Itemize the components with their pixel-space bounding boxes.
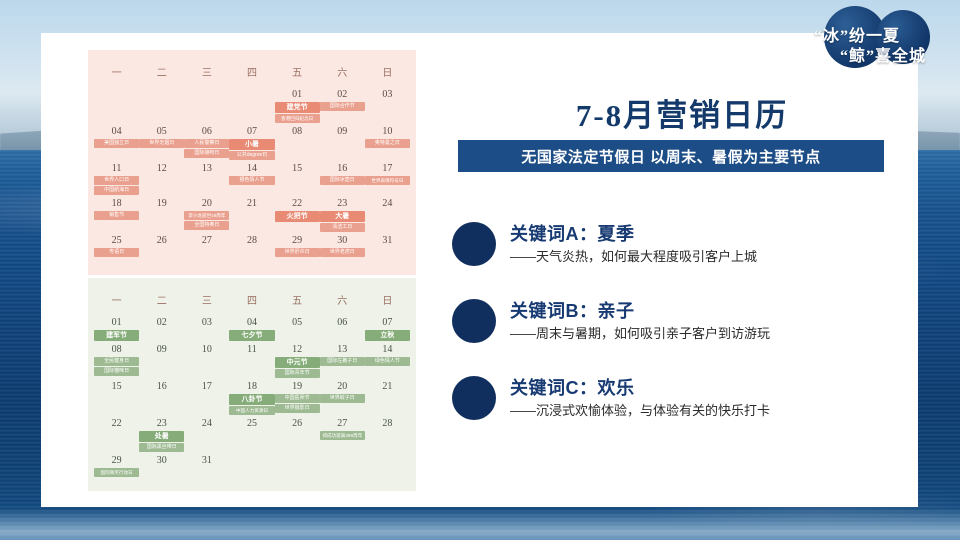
calendar-day-cell[interactable]: 17世界表情符号日	[365, 161, 410, 196]
day-number: 29	[94, 455, 139, 467]
weekday-label: 三	[184, 284, 229, 313]
calendar-day-cell[interactable]: 19	[139, 196, 184, 233]
calendar-day-cell[interactable]: 08全民健身日国际猫咪日	[94, 342, 139, 379]
day-event-tag[interactable]: 世界老虎日	[320, 248, 365, 257]
day-number: 15	[94, 381, 139, 393]
day-event-tag[interactable]: 全国特奥日	[184, 221, 229, 230]
highlight-banner-text: 无国家法定节假日 以周末、暑假为主要节点	[521, 146, 820, 167]
day-event-tag[interactable]: 国际黑丝带日	[139, 443, 184, 452]
day-event-tag[interactable]: 绿色情人节	[365, 357, 410, 366]
weekday-label: 二	[139, 56, 184, 85]
day-number: 31	[184, 455, 229, 467]
calendar-day-cell[interactable]: 12中元节国际青年节	[275, 342, 320, 379]
calendar-day-cell[interactable]: 04美国独立日	[94, 124, 139, 161]
day-event-tag[interactable]: 美国独立日	[94, 139, 139, 148]
calendar-day-cell[interactable]: 29世界肝炎日	[275, 233, 320, 258]
weekday-label: 六	[320, 56, 365, 85]
day-number: 18	[229, 381, 274, 393]
calendar-day-cell[interactable]: 25粤语日	[94, 233, 139, 258]
calendar-day-cell[interactable]	[320, 453, 365, 478]
calendar-day-cell[interactable]: 27郑成功诞辰398周年	[320, 416, 365, 453]
keyword-c-title: 关键词C：欢乐	[510, 374, 635, 400]
day-event-tag[interactable]: 香港回归纪念日	[275, 114, 320, 123]
calendar-day-cell[interactable]: 02	[139, 315, 184, 342]
calendar-july: 一二三四五六日01建党节香港回归纪念日02国际合作节0304美国独立日05世界无…	[88, 50, 416, 275]
calendar-day-cell[interactable]: 26	[139, 233, 184, 258]
day-event-tag[interactable]: 国际合作节	[320, 102, 365, 111]
day-event-tag[interactable]: 国际猫咪日	[94, 367, 139, 376]
day-event-tag[interactable]: 清洁工日	[320, 223, 365, 232]
calendar-day-cell[interactable]: 22火把节	[275, 196, 320, 233]
day-number: 07	[365, 317, 410, 329]
bullet-dot-icon	[452, 222, 496, 266]
day-event-tag[interactable]: 小暑	[229, 139, 274, 150]
day-number: 26	[139, 235, 184, 247]
calendar-day-cell[interactable]: 18八卦节中国人力资源日	[229, 379, 274, 416]
calendar-day-cell[interactable]: 17	[184, 379, 229, 416]
day-number: 11	[94, 163, 139, 175]
calendar-day-cell[interactable]	[139, 87, 184, 124]
day-number: 22	[275, 198, 320, 210]
day-number: 24	[184, 418, 229, 430]
weekday-label: 三	[184, 56, 229, 85]
day-number: 20	[320, 381, 365, 393]
calendar-day-cell[interactable]: 06	[320, 315, 365, 342]
calendar-day-cell[interactable]: 11	[229, 342, 274, 379]
logo-line-2: “鲸”喜全城	[840, 42, 926, 66]
calendar-day-cell[interactable]: 15	[275, 161, 320, 196]
day-number: 29	[275, 235, 320, 247]
day-number: 17	[365, 163, 410, 175]
calendar-day-cell[interactable]: 14银色情人节	[229, 161, 274, 196]
day-number: 30	[320, 235, 365, 247]
day-event-tag[interactable]: 国际青年节	[275, 369, 320, 378]
day-number: 19	[275, 381, 320, 393]
weekday-label: 日	[365, 56, 410, 85]
day-number: 06	[184, 126, 229, 138]
day-event-tag[interactable]: 建军节	[94, 330, 139, 341]
calendar-day-cell[interactable]: 26	[275, 416, 320, 453]
weekday-label: 五	[275, 56, 320, 85]
day-number: 25	[94, 235, 139, 247]
calendar-week-row: 01建军节020304七夕节050607立秋	[88, 315, 416, 342]
day-event-tag[interactable]: 八卦节	[229, 394, 274, 405]
calendar-day-cell[interactable]	[365, 453, 410, 478]
calendar-day-cell[interactable]	[229, 453, 274, 478]
calendar-day-cell[interactable]	[184, 87, 229, 124]
weekday-label: 六	[320, 284, 365, 313]
calendar-week-row: 11世界人口日中国航海日121314银色情人节1516国际冰壶日17世界表情符号…	[88, 161, 416, 196]
calendar-day-cell[interactable]: 22	[94, 416, 139, 453]
calendar-day-cell[interactable]: 10奥特曼之日	[365, 124, 410, 161]
calendar-day-cell[interactable]: 15	[94, 379, 139, 416]
day-event-tag[interactable]: 国际接吻日	[184, 149, 229, 158]
day-number: 13	[320, 344, 365, 356]
day-number: 12	[139, 163, 184, 175]
calendar-day-cell[interactable]: 27	[184, 233, 229, 258]
day-number: 08	[94, 344, 139, 356]
day-event-tag[interactable]: 国际冰壶日	[320, 176, 365, 185]
calendar-august: 一二三四五六日01建军节020304七夕节050607立秋08全民健身日国际猫咪…	[88, 278, 416, 491]
day-number: 28	[365, 418, 410, 430]
calendar-week-row: 08全民健身日国际猫咪日09101112中元节国际青年节13国际左撇子日14绿色…	[88, 342, 416, 379]
day-number: 05	[275, 317, 320, 329]
day-event-tag[interactable]: 中国医师节	[275, 394, 320, 403]
calendar-day-cell[interactable]: 24	[184, 416, 229, 453]
calendar-weekday-header: 一二三四五六日	[88, 278, 416, 315]
calendar-day-cell[interactable]: 01建党节香港回归纪念日	[275, 87, 320, 124]
calendar-day-cell[interactable]: 30世界老虎日	[320, 233, 365, 258]
day-number: 03	[184, 317, 229, 329]
weekday-label: 四	[229, 284, 274, 313]
day-number: 27	[320, 418, 365, 430]
day-number: 10	[365, 126, 410, 138]
day-number: 06	[320, 317, 365, 329]
calendar-week-row: 18销售节1920李小龙逝世49周年全国特奥日2122火把节23大暑清洁工日24	[88, 196, 416, 233]
day-number: 24	[365, 198, 410, 210]
day-number: 05	[139, 126, 184, 138]
calendar-weekday-header: 一二三四五六日	[88, 50, 416, 87]
day-event-tag[interactable]: 立秋	[365, 330, 410, 341]
weekday-label: 二	[139, 284, 184, 313]
calendar-day-cell[interactable]: 05	[275, 315, 320, 342]
day-event-tag[interactable]: 人民警察日	[184, 139, 229, 148]
day-event-tag[interactable]: 全民健身日	[94, 357, 139, 366]
calendar-day-cell[interactable]: 18销售节	[94, 196, 139, 233]
day-event-tag[interactable]: 世界肝炎日	[275, 248, 320, 257]
calendar-day-cell[interactable]: 23大暑清洁工日	[320, 196, 365, 233]
day-event-tag[interactable]: 七夕节	[229, 330, 274, 341]
calendar-day-cell[interactable]: 09	[320, 124, 365, 161]
keyword-item-b: 关键词B：亲子 ——周末与暑期，如何吸引亲子客户到访游玩	[452, 297, 902, 359]
keyword-c-subtitle: ——沉浸式欢愉体验，与体验有关的快乐打卡	[510, 400, 770, 419]
day-number: 30	[139, 455, 184, 467]
day-number: 17	[184, 381, 229, 393]
day-event-tag[interactable]: 李小龙逝世49周年	[184, 211, 229, 220]
day-number: 22	[94, 418, 139, 430]
weekday-label: 一	[94, 284, 139, 313]
day-event-tag[interactable]: 奥特曼之日	[365, 139, 410, 148]
day-number: 04	[94, 126, 139, 138]
calendar-week-row: 29国际微笑行动日3031	[88, 453, 416, 478]
calendar-day-cell[interactable]: 31	[184, 453, 229, 478]
calendar-week-row: 25粤语日26272829世界肝炎日30世界老虎日31	[88, 233, 416, 258]
calendar-day-cell[interactable]	[275, 453, 320, 478]
day-number: 08	[275, 126, 320, 138]
calendar-day-cell[interactable]: 19中国医师节世界摄影日	[275, 379, 320, 416]
bullet-dot-icon	[452, 376, 496, 420]
calendar-day-cell[interactable]: 11世界人口日中国航海日	[94, 161, 139, 196]
day-number: 16	[139, 381, 184, 393]
day-event-tag[interactable]: 世界人口日	[94, 176, 139, 185]
weekday-label: 日	[365, 284, 410, 313]
day-number: 25	[229, 418, 274, 430]
bullet-dot-icon	[452, 299, 496, 343]
day-number: 09	[320, 126, 365, 138]
calendar-day-cell[interactable]: 28	[229, 233, 274, 258]
keyword-item-c: 关键词C：欢乐 ——沉浸式欢愉体验，与体验有关的快乐打卡	[452, 374, 902, 436]
weekday-label: 四	[229, 56, 274, 85]
calendar-week-row: 2223处暑国际黑丝带日24252627郑成功诞辰398周年28	[88, 416, 416, 453]
calendar-day-cell[interactable]: 07立秋	[365, 315, 410, 342]
day-event-tag[interactable]: 公共degree日	[229, 151, 274, 160]
day-event-tag[interactable]: 大暑	[320, 211, 365, 222]
keyword-a-title: 关键词A：夏季	[510, 220, 635, 246]
day-number: 31	[365, 235, 410, 247]
calendar-week-row: 15161718八卦节中国人力资源日19中国医师节世界摄影日20世界蚊子日21	[88, 379, 416, 416]
day-number: 10	[184, 344, 229, 356]
day-event-tag[interactable]: 郑成功诞辰398周年	[320, 431, 365, 440]
calendar-day-cell[interactable]: 06人民警察日国际接吻日	[184, 124, 229, 161]
calendar-day-cell[interactable]: 24	[365, 196, 410, 233]
day-number: 02	[139, 317, 184, 329]
weekday-label: 一	[94, 56, 139, 85]
highlight-banner: 无国家法定节假日 以周末、暑假为主要节点	[458, 140, 884, 172]
day-number: 20	[184, 198, 229, 210]
day-event-tag[interactable]: 销售节	[94, 211, 139, 220]
calendar-day-cell[interactable]: 30	[139, 453, 184, 478]
right-column: 7-8月营销日历 无国家法定节假日 以周末、暑假为主要节点 关键词A：夏季 ——…	[446, 0, 906, 540]
calendar-day-cell[interactable]: 16国际冰壶日	[320, 161, 365, 196]
calendar-day-cell[interactable]: 12	[139, 161, 184, 196]
calendar-day-cell[interactable]: 09	[139, 342, 184, 379]
calendar-day-cell[interactable]: 31	[365, 233, 410, 258]
day-number: 07	[229, 126, 274, 138]
day-number: 02	[320, 89, 365, 101]
calendar-day-cell[interactable]: 23处暑国际黑丝带日	[139, 416, 184, 453]
calendar-day-cell[interactable]: 20世界蚊子日	[320, 379, 365, 416]
day-event-tag[interactable]: 国际微笑行动日	[94, 468, 139, 477]
day-number: 23	[320, 198, 365, 210]
day-event-tag[interactable]: 国际左撇子日	[320, 357, 365, 366]
day-event-tag[interactable]: 建党节	[275, 102, 320, 113]
calendar-day-cell[interactable]	[229, 87, 274, 124]
calendar-day-cell[interactable]: 03	[365, 87, 410, 124]
calendar-day-cell[interactable]: 14绿色情人节	[365, 342, 410, 379]
day-number: 19	[139, 198, 184, 210]
calendar-day-cell[interactable]	[94, 87, 139, 124]
calendar-day-cell[interactable]: 10	[184, 342, 229, 379]
day-number: 14	[365, 344, 410, 356]
day-number: 01	[275, 89, 320, 101]
day-number: 13	[184, 163, 229, 175]
calendar-day-cell[interactable]: 08	[275, 124, 320, 161]
day-event-tag[interactable]: 世界蚊子日	[320, 394, 365, 403]
calendar-day-cell[interactable]: 29国际微笑行动日	[94, 453, 139, 478]
calendar-day-cell[interactable]: 21	[365, 379, 410, 416]
calendar-day-cell[interactable]: 20李小龙逝世49周年全国特奥日	[184, 196, 229, 233]
day-number: 16	[320, 163, 365, 175]
calendar-day-cell[interactable]: 01建军节	[94, 315, 139, 342]
calendar-week-row: 04美国独立日05世界无烟日06人民警察日国际接吻日07小暑公共degree日0…	[88, 124, 416, 161]
calendar-day-cell[interactable]: 16	[139, 379, 184, 416]
calendar-day-cell[interactable]: 13	[184, 161, 229, 196]
day-number: 23	[139, 418, 184, 430]
day-event-tag[interactable]: 世界摄影日	[275, 404, 320, 413]
day-number: 27	[184, 235, 229, 247]
day-number: 14	[229, 163, 274, 175]
day-number: 21	[365, 381, 410, 393]
calendar-day-cell[interactable]: 02国际合作节	[320, 87, 365, 124]
keyword-b-subtitle: ——周末与暑期，如何吸引亲子客户到访游玩	[510, 323, 770, 342]
page-title: 7-8月营销日历	[522, 90, 842, 135]
calendar-day-cell[interactable]: 21	[229, 196, 274, 233]
day-number: 04	[229, 317, 274, 329]
brand-logo: “冰”纷一夏 “鲸”喜全城	[800, 4, 952, 72]
weekday-label: 五	[275, 284, 320, 313]
day-number: 01	[94, 317, 139, 329]
day-number: 11	[229, 344, 274, 356]
calendar-day-cell[interactable]: 04七夕节	[229, 315, 274, 342]
calendar-day-cell[interactable]: 13国际左撇子日	[320, 342, 365, 379]
day-number: 12	[275, 344, 320, 356]
day-event-tag[interactable]: 粤语日	[94, 248, 139, 257]
day-event-tag[interactable]: 世界无烟日	[139, 139, 184, 148]
day-number: 26	[275, 418, 320, 430]
day-number: 15	[275, 163, 320, 175]
day-event-tag[interactable]: 中元节	[275, 357, 320, 368]
calendar-day-cell[interactable]: 25	[229, 416, 274, 453]
keyword-a-subtitle: ——天气炎热，如何最大程度吸引客户上城	[510, 246, 757, 265]
day-event-tag[interactable]: 银色情人节	[229, 176, 274, 185]
calendar-day-cell[interactable]: 05世界无烟日	[139, 124, 184, 161]
day-event-tag[interactable]: 火把节	[275, 211, 320, 222]
day-event-tag[interactable]: 世界表情符号日	[365, 176, 410, 185]
keyword-item-a: 关键词A：夏季 ——天气炎热，如何最大程度吸引客户上城	[452, 220, 902, 282]
keyword-b-title: 关键词B：亲子	[510, 297, 635, 323]
day-number: 18	[94, 198, 139, 210]
calendar-week-row: 01建党节香港回归纪念日02国际合作节03	[88, 87, 416, 124]
day-number: 21	[229, 198, 274, 210]
calendar-day-cell[interactable]: 07小暑公共degree日	[229, 124, 274, 161]
day-number: 28	[229, 235, 274, 247]
day-event-tag[interactable]: 中国航海日	[94, 186, 139, 195]
day-event-tag[interactable]: 处暑	[139, 431, 184, 442]
day-number: 09	[139, 344, 184, 356]
day-event-tag[interactable]: 中国人力资源日	[229, 406, 274, 415]
day-number: 03	[365, 89, 410, 101]
calendar-day-cell[interactable]: 28	[365, 416, 410, 453]
calendar-day-cell[interactable]: 03	[184, 315, 229, 342]
logo-text: “冰”纷一夏 “鲸”喜全城	[800, 4, 952, 72]
